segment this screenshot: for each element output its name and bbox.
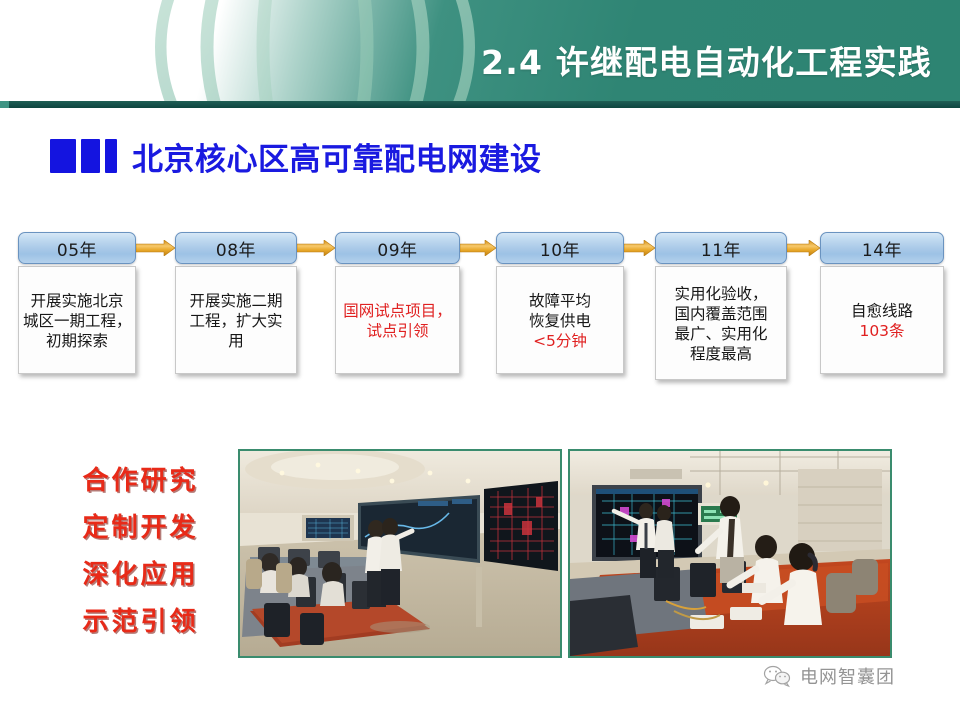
slide-header: 2.4 许继配电自动化工程实践 <box>0 0 960 101</box>
timeline-step-year-box: 10年 <box>496 232 624 264</box>
timeline-arrow <box>297 240 335 256</box>
timeline-step: 11年实用化验收，国内覆盖范围最广、实用化程度最高 <box>655 232 787 380</box>
globe-grid-icon <box>150 0 480 101</box>
timeline-step-year-box: 05年 <box>18 232 136 264</box>
timeline-step-year-label: 08年 <box>216 236 256 261</box>
timeline-step-year-label: 14年 <box>862 236 902 261</box>
header-divider <box>0 101 960 108</box>
timeline-step-line: 工程，扩大实 <box>180 311 292 331</box>
slogan-item: 合作研究 <box>58 458 223 505</box>
slogan-item: 定制开发 <box>58 505 223 552</box>
timeline-step-year-box: 14年 <box>820 232 944 264</box>
header-divider-tip <box>0 101 9 108</box>
watermark: 电网智囊团 <box>762 663 895 689</box>
watermark-label: 电网智囊团 <box>800 663 895 689</box>
timeline-step: 05年开展实施北京城区一期工程，初期探索 <box>18 232 136 374</box>
timeline-step-year-box: 08年 <box>175 232 297 264</box>
control-room-photo-left <box>238 449 562 658</box>
timeline-step-year-label: 11年 <box>701 236 741 261</box>
timeline-step-line: 国内覆盖范围 <box>660 304 782 324</box>
timeline-arrow <box>624 240 655 256</box>
slogan-item: 示范引领 <box>58 599 223 646</box>
wechat-logo-icon <box>762 664 792 688</box>
timeline-step-body: 故障平均恢复供电<5分钟 <box>496 266 624 374</box>
timeline-step: 10年故障平均恢复供电<5分钟 <box>496 232 624 374</box>
timeline-step-year-box: 11年 <box>655 232 787 264</box>
timeline-step-year-label: 05年 <box>57 236 97 261</box>
section-heading: 北京核心区高可靠配电网建设 <box>50 134 542 178</box>
timeline-step-line: 开展实施北京 <box>23 291 131 311</box>
timeline-step-year-label: 10年 <box>540 236 580 261</box>
timeline-step-body: 实用化验收，国内覆盖范围最广、实用化程度最高 <box>655 266 787 380</box>
timeline-step: 09年国网试点项目，试点引领 <box>335 232 460 374</box>
timeline-step-body: 自愈线路103条 <box>820 266 944 374</box>
timeline-step-body: 国网试点项目，试点引领 <box>335 266 460 374</box>
timeline-step-line: 用 <box>180 331 292 351</box>
timeline-step-line: 最广、实用化 <box>660 324 782 344</box>
bullet-square-1 <box>50 139 76 173</box>
timeline-step-line: 程度最高 <box>660 344 782 364</box>
timeline-arrow <box>787 240 820 256</box>
timeline-arrow <box>136 240 175 256</box>
timeline-step-line: 国网试点项目， <box>340 301 455 321</box>
timeline: 05年开展实施北京城区一期工程，初期探索08年开展实施二期工程，扩大实用09年国… <box>0 232 960 392</box>
timeline-arrow <box>460 240 496 256</box>
timeline-step-year-label: 09年 <box>377 236 417 261</box>
timeline-step-line: 初期探索 <box>23 331 131 351</box>
timeline-step-line: 恢复供电 <box>501 311 619 331</box>
timeline-step-line: 开展实施二期 <box>180 291 292 311</box>
timeline-step-line: <5分钟 <box>501 331 619 351</box>
timeline-step-line: 自愈线路 <box>825 301 939 321</box>
timeline-step-line: 故障平均 <box>501 291 619 311</box>
slogan-list: 合作研究定制开发深化应用示范引领 <box>58 458 223 646</box>
control-room-photo-right <box>568 449 892 658</box>
timeline-step-line: 城区一期工程， <box>23 311 131 331</box>
timeline-step-year-box: 09年 <box>335 232 460 264</box>
timeline-step-line: 103条 <box>825 321 939 341</box>
timeline-step-body: 开展实施北京城区一期工程，初期探索 <box>18 266 136 374</box>
page-title: 2.4 许继配电自动化工程实践 <box>481 36 932 84</box>
timeline-step: 08年开展实施二期工程，扩大实用 <box>175 232 297 374</box>
section-heading-label: 北京核心区高可靠配电网建设 <box>132 134 542 179</box>
timeline-step-line: 试点引领 <box>340 321 455 341</box>
timeline-step-body: 开展实施二期工程，扩大实用 <box>175 266 297 374</box>
slogan-item: 深化应用 <box>58 552 223 599</box>
timeline-step: 14年自愈线路103条 <box>820 232 944 374</box>
bullet-square-2 <box>81 139 100 173</box>
timeline-step-line: 实用化验收， <box>660 284 782 304</box>
bullet-square-3 <box>105 139 117 173</box>
